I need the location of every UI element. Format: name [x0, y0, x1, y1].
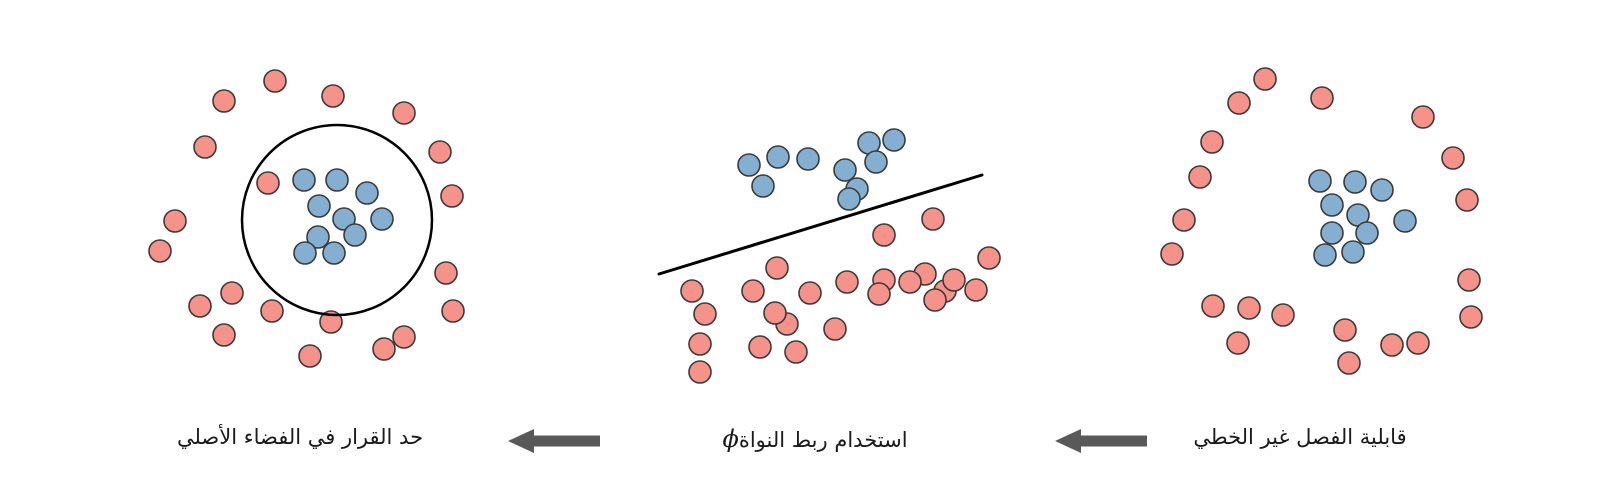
data-point-class-outer — [149, 240, 171, 262]
data-point-class-inner — [883, 129, 905, 151]
data-point-class-inner — [1371, 179, 1393, 201]
caption-decision-boundary: حد القرار في الفضاء الأصلي — [177, 424, 423, 450]
data-point-class-outer — [1338, 352, 1360, 374]
data-point-class-outer — [943, 269, 965, 291]
data-point-class-outer — [1456, 189, 1478, 211]
data-point-class-outer — [1442, 147, 1464, 169]
data-point-class-inner — [767, 146, 789, 168]
scatter-group-kernel-mapping-panel — [681, 129, 1000, 383]
data-point-class-outer — [681, 280, 703, 302]
data-point-class-outer — [393, 102, 415, 124]
data-point-class-outer — [1228, 92, 1250, 114]
data-point-class-outer — [1272, 304, 1294, 326]
data-point-class-inner — [834, 159, 856, 181]
data-point-class-outer — [1458, 269, 1480, 291]
data-point-class-inner — [1342, 241, 1364, 263]
data-point-class-outer — [194, 136, 216, 158]
data-point-class-inner — [371, 208, 393, 230]
data-point-class-outer — [164, 210, 186, 232]
data-point-class-inner — [1344, 171, 1366, 193]
data-point-class-outer — [873, 224, 895, 246]
data-point-class-outer — [257, 172, 279, 194]
data-point-class-outer — [1412, 106, 1434, 128]
data-point-class-outer — [899, 271, 921, 293]
data-point-class-outer — [442, 300, 464, 322]
caption-non-linear-separability: قابلية الفصل غير الخطي — [1193, 424, 1406, 450]
data-point-class-inner — [1321, 194, 1343, 216]
data-point-class-outer — [1407, 332, 1429, 354]
data-point-class-inner — [738, 154, 760, 176]
scatter-group-decision-boundary-panel — [149, 70, 464, 367]
data-point-class-outer — [213, 90, 235, 112]
data-point-class-outer — [373, 338, 395, 360]
data-point-class-outer — [299, 345, 321, 367]
data-point-class-outer — [393, 326, 415, 348]
data-point-class-outer — [1173, 209, 1195, 231]
data-point-class-outer — [1381, 334, 1403, 356]
data-point-class-outer — [189, 295, 211, 317]
caption-kernel-mapping-text: استخدام ربط النواة — [739, 428, 908, 452]
data-point-class-inner — [1394, 210, 1416, 232]
data-point-class-outer — [1254, 68, 1276, 90]
data-point-class-outer — [435, 262, 457, 284]
data-point-class-inner — [1321, 222, 1343, 244]
data-point-class-outer — [1238, 297, 1260, 319]
data-point-class-inner — [1309, 170, 1331, 192]
data-point-class-inner — [323, 242, 345, 264]
data-point-class-inner — [838, 188, 860, 210]
data-point-class-outer — [1202, 295, 1224, 317]
data-point-class-outer — [742, 280, 764, 302]
data-point-class-outer — [749, 336, 771, 358]
data-point-class-outer — [764, 302, 786, 324]
data-point-class-outer — [824, 318, 846, 340]
data-point-class-inner — [326, 169, 348, 191]
data-point-class-outer — [429, 141, 451, 163]
data-point-class-inner — [752, 175, 774, 197]
data-point-class-outer — [965, 279, 987, 301]
data-point-class-outer — [1161, 243, 1183, 265]
data-point-class-outer — [689, 361, 711, 383]
data-point-class-outer — [766, 257, 788, 279]
data-point-class-inner — [865, 151, 887, 173]
data-point-class-outer — [1227, 332, 1249, 354]
data-point-class-inner — [308, 195, 330, 217]
data-point-class-inner — [1356, 222, 1378, 244]
data-point-class-outer — [868, 283, 890, 305]
data-point-class-outer — [978, 247, 1000, 269]
data-point-class-outer — [836, 271, 858, 293]
data-point-class-outer — [1460, 306, 1482, 328]
data-point-class-outer — [441, 185, 463, 207]
data-point-class-inner — [1314, 244, 1336, 266]
data-point-class-outer — [213, 324, 235, 346]
data-point-class-outer — [694, 303, 716, 325]
data-point-class-inner — [344, 224, 366, 246]
data-point-class-inner — [356, 182, 378, 204]
caption-kernel-mapping: استخدام ربط النواةϕ — [722, 424, 907, 454]
data-point-class-outer — [922, 208, 944, 230]
data-point-class-outer — [261, 300, 283, 322]
arrow-right-to-middle — [1055, 429, 1147, 453]
data-point-class-outer — [221, 282, 243, 304]
data-point-class-inner — [293, 169, 315, 191]
kernel-trick-figure: حد القرار في الفضاء الأصلي استخدام ربط ا… — [0, 0, 1600, 500]
scatter-group-non-linear-separability-panel — [1161, 68, 1482, 374]
data-point-class-outer — [1189, 166, 1211, 188]
data-point-class-outer — [1201, 131, 1223, 153]
data-point-class-outer — [785, 341, 807, 363]
data-point-class-outer — [264, 70, 286, 92]
arrow-middle-to-left — [508, 429, 600, 453]
data-point-class-outer — [689, 333, 711, 355]
data-point-class-outer — [799, 282, 821, 304]
data-point-class-outer — [924, 289, 946, 311]
data-point-class-inner — [294, 242, 316, 264]
data-point-class-inner — [797, 148, 819, 170]
data-point-class-outer — [1311, 87, 1333, 109]
data-point-class-outer — [322, 85, 344, 107]
data-point-class-outer — [1334, 319, 1356, 341]
phi-symbol: ϕ — [722, 425, 738, 453]
